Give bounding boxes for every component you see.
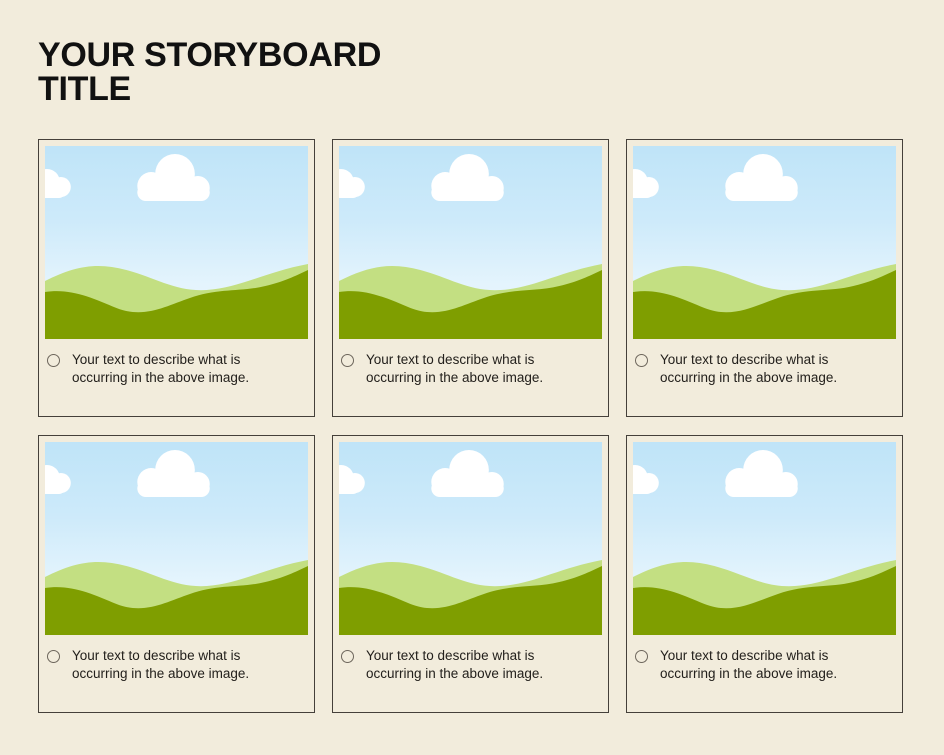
caption-text: Your text to describe what is occurring … (366, 351, 543, 387)
caption-text: Your text to describe what is occurring … (660, 351, 837, 387)
caption-row: Your text to describe what is occurring … (339, 647, 602, 683)
landscape-svg (339, 442, 602, 635)
storyboard-page: YOUR STORYBOARD TITLE (0, 0, 944, 755)
scene-illustration (45, 146, 308, 339)
scene-illustration (339, 442, 602, 635)
storyboard-panel[interactable]: Your text to describe what is occurring … (626, 435, 903, 713)
storyboard-panel[interactable]: Your text to describe what is occurring … (332, 435, 609, 713)
bullet-circle-icon[interactable] (635, 650, 648, 663)
storyboard-panel[interactable]: Your text to describe what is occurring … (38, 139, 315, 417)
landscape-svg (45, 146, 308, 339)
caption-row: Your text to describe what is occurring … (45, 351, 308, 387)
storyboard-panel[interactable]: Your text to describe what is occurring … (38, 435, 315, 713)
cloud-edge-partial (339, 465, 365, 494)
cloud-main (137, 154, 209, 201)
bullet-circle-icon[interactable] (341, 650, 354, 663)
cloud-main (725, 154, 797, 201)
landscape-svg (633, 146, 896, 339)
bullet-circle-icon[interactable] (341, 354, 354, 367)
page-title: YOUR STORYBOARD TITLE (38, 38, 558, 106)
storyboard-panel[interactable]: Your text to describe what is occurring … (626, 139, 903, 417)
bullet-circle-icon[interactable] (47, 354, 60, 367)
bullet-circle-icon[interactable] (47, 650, 60, 663)
cloud-main (431, 450, 503, 497)
scene-illustration (633, 442, 896, 635)
storyboard-panel[interactable]: Your text to describe what is occurring … (332, 139, 609, 417)
cloud-edge-partial (45, 169, 71, 198)
cloud-edge-partial (339, 169, 365, 198)
cloud-edge-partial (45, 465, 71, 494)
landscape-svg (45, 442, 308, 635)
caption-text: Your text to describe what is occurring … (366, 647, 543, 683)
caption-row: Your text to describe what is occurring … (339, 351, 602, 387)
caption-text: Your text to describe what is occurring … (72, 351, 249, 387)
landscape-svg (339, 146, 602, 339)
cloud-main (725, 450, 797, 497)
caption-row: Your text to describe what is occurring … (633, 647, 896, 683)
storyboard-grid: Your text to describe what is occurring … (38, 139, 906, 713)
caption-row: Your text to describe what is occurring … (633, 351, 896, 387)
scene-illustration (633, 146, 896, 339)
caption-text: Your text to describe what is occurring … (72, 647, 249, 683)
scene-illustration (45, 442, 308, 635)
caption-text: Your text to describe what is occurring … (660, 647, 837, 683)
landscape-svg (633, 442, 896, 635)
cloud-edge-partial (633, 465, 659, 494)
scene-illustration (339, 146, 602, 339)
bullet-circle-icon[interactable] (635, 354, 648, 367)
cloud-main (137, 450, 209, 497)
caption-row: Your text to describe what is occurring … (45, 647, 308, 683)
cloud-edge-partial (633, 169, 659, 198)
cloud-main (431, 154, 503, 201)
